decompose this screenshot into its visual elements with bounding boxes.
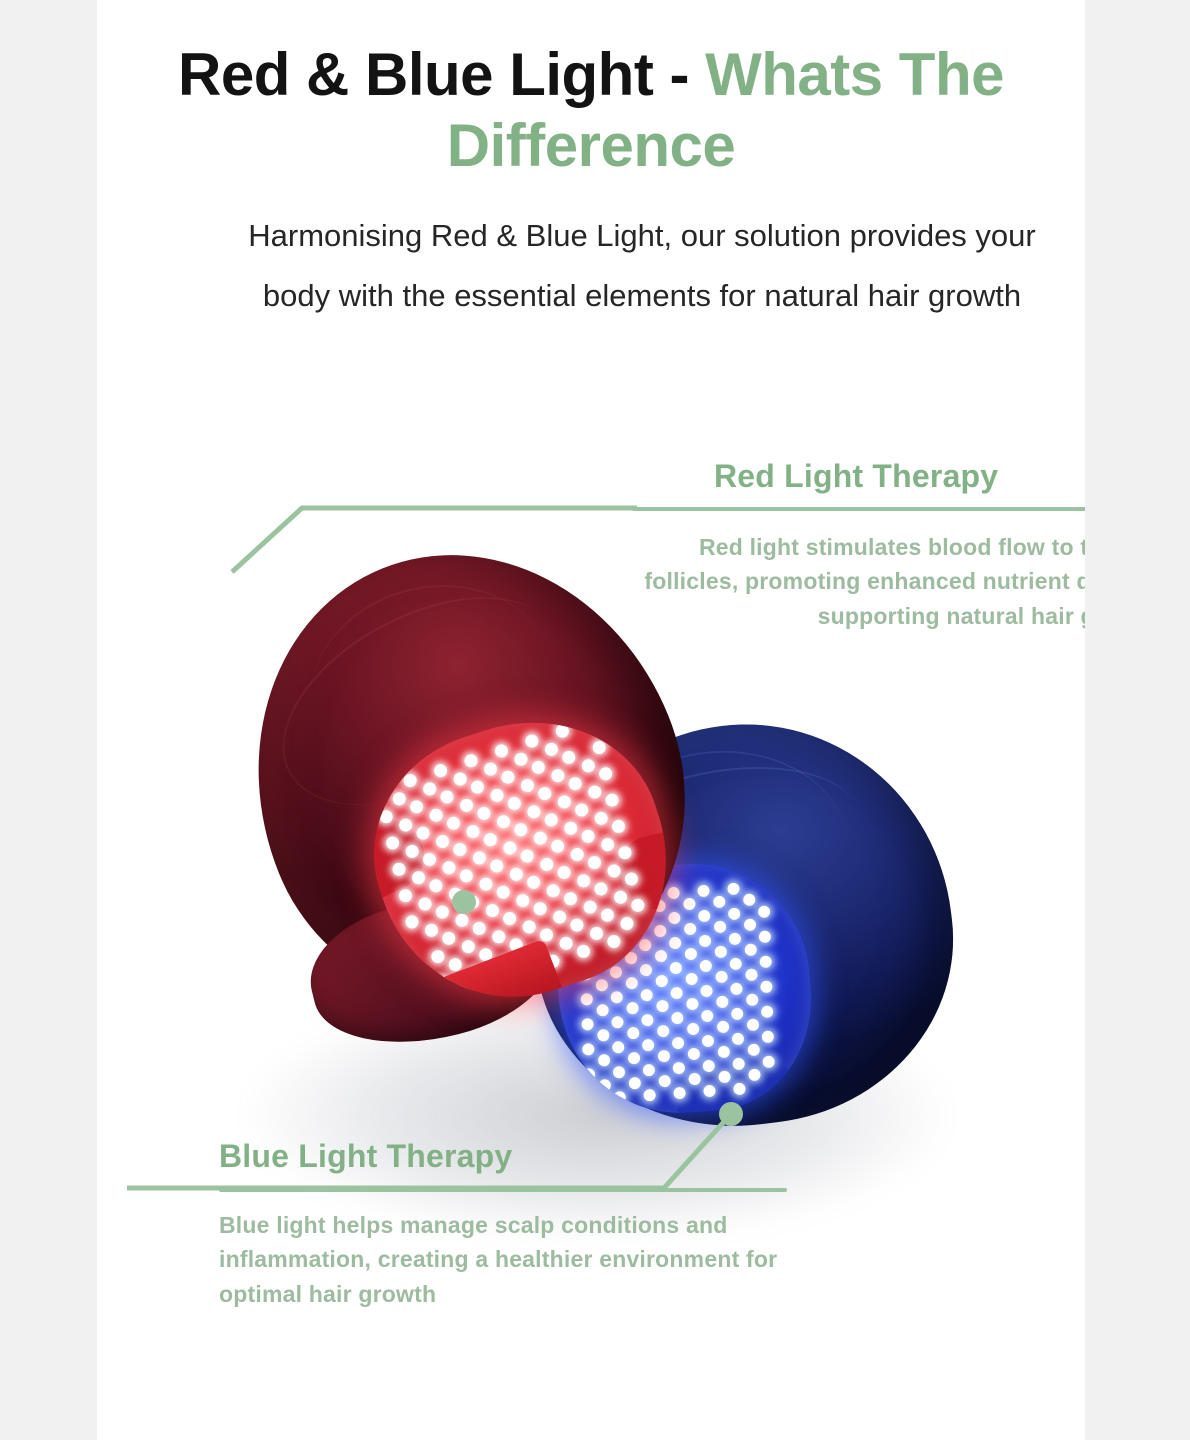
red-light-therapy-description: Red light stimulates blood flow to the h… [602, 530, 1085, 633]
blue-light-therapy-title: Blue Light Therapy [219, 1138, 512, 1175]
red-callout-rule [632, 507, 1085, 511]
blue-callout-anchor-dot [719, 1102, 743, 1126]
page-subtitle-line-2: body with the essential elements for nat… [137, 266, 1085, 326]
page-title: Red & Blue Light - Whats The Difference [117, 40, 1065, 182]
page-title-dark: Red & Blue Light - [178, 41, 705, 108]
content-card: Red & Blue Light - Whats The Difference … [97, 0, 1085, 1440]
page-subtitle-line-1: Harmonising Red & Blue Light, our soluti… [137, 206, 1085, 266]
red-leader-line [232, 508, 637, 572]
page-root: Red & Blue Light - Whats The Difference … [0, 0, 1190, 1440]
red-light-therapy-title: Red Light Therapy [714, 458, 998, 495]
blue-callout-rule [219, 1188, 787, 1192]
page-subtitle: Harmonising Red & Blue Light, our soluti… [137, 206, 1085, 327]
red-callout-anchor-dot [452, 890, 476, 914]
blue-light-therapy-description: Blue light helps manage scalp conditions… [219, 1208, 839, 1311]
